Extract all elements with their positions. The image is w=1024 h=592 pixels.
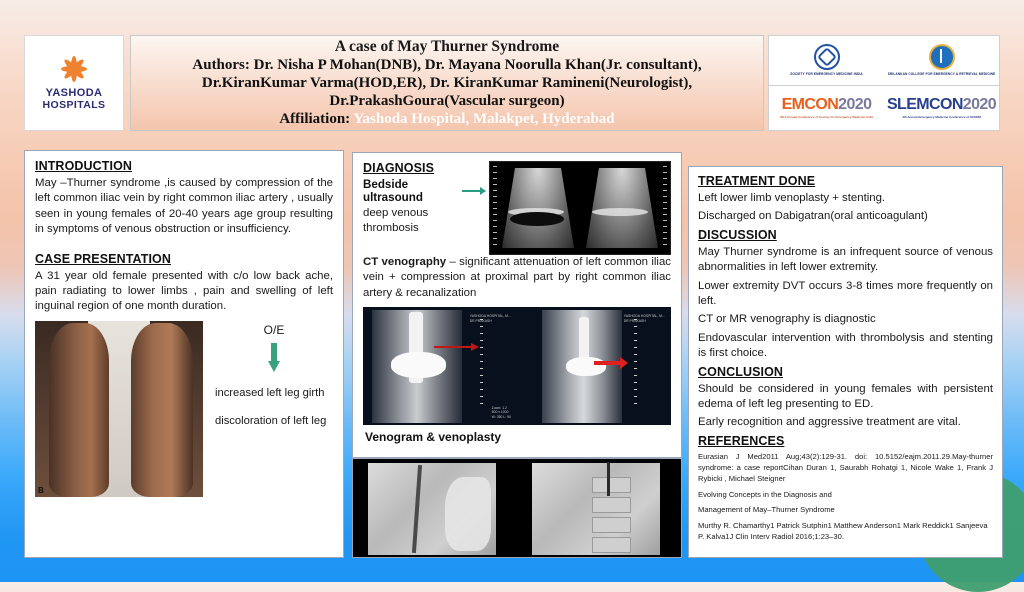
conclusion-line-1: Should be considered in young females wi… [698, 382, 993, 413]
venogram-image-1 [353, 459, 517, 558]
ct-venography-label: CT venography [363, 256, 446, 268]
discussion-heading: DISCUSSION [698, 228, 993, 242]
ultrasound-sector-left [502, 168, 574, 248]
reference-3: Management of May–Thurner Syndrome [698, 504, 993, 515]
reference-1: Eurasian J Med2011 Aug;43(2):129-31. doi… [698, 451, 993, 485]
treatment-line-1: Left lower limb venoplasty + stenting. [698, 191, 993, 206]
right-leg-region [131, 323, 193, 497]
semi-caption: SOCIETY FOR EMERGENCY MEDICINE INDIA [790, 72, 863, 76]
emcon-subtitle: 33rd Annual Conference of Society for Em… [780, 115, 873, 119]
ultrasound-scale-right [663, 166, 667, 250]
left-leg-region [49, 323, 109, 497]
reference-4: Murthy R. Chamarthy1 Patrick Sutphin1 Ma… [698, 520, 993, 543]
bedside-finding: deep venous thrombosis [363, 206, 485, 237]
bedside-ultrasound-text: Bedside ultrasound [363, 178, 460, 204]
ultrasound-scale-left [493, 166, 497, 250]
affiliation-label: Affiliation: [279, 111, 350, 127]
oe-label: O/E [264, 323, 285, 337]
left-column: INTRODUCTION May –Thurner syndrome ,is c… [24, 150, 344, 558]
yashoda-logo: YASHODA HOSPITALS [24, 35, 124, 131]
case-presentation-heading: CASE PRESENTATION [35, 252, 333, 266]
poster-header: YASHODA HOSPITALS A case of May Thurner … [24, 35, 1000, 143]
ct-venography-images: YASHODA HOSPITAL, M...DR PRAKASH Zoom: 1… [363, 307, 671, 425]
conclusion-heading: CONCLUSION [698, 365, 993, 379]
spacer [35, 241, 333, 252]
ct-venography-paragraph: CT venography – significant attenuation … [363, 255, 671, 301]
conclusion-line-2: Early recognition and aggressive treatme… [698, 415, 993, 430]
poster-authors: Authors: Dr. Nisha P Mohan(DNB), Dr. May… [139, 56, 755, 110]
discussion-line-4: Endovascular intervention with thromboly… [698, 331, 993, 362]
reference-2: Evolving Concepts in the Diagnosis and [698, 489, 993, 500]
diagnosis-text-block: DIAGNOSIS Bedside ultrasound deep venous… [363, 161, 489, 255]
slemcon-year: 2020 [963, 96, 996, 113]
slemcon-subtitle: 4th Annual Emergency Medicine Conference… [902, 115, 981, 119]
trefoil-icon [814, 44, 840, 70]
introduction-heading: INTRODUCTION [35, 159, 333, 173]
slemcon-wordmark: SLEMCON2020 [887, 96, 996, 114]
middle-column: DIAGNOSIS Bedside ultrasound deep venous… [352, 152, 682, 458]
slem-caption: SRILANKAN COLLEGE FOR EMERGENCY & RETRIE… [888, 72, 996, 76]
slemcon-logo: SLEMCON2020 4th Annual Emergency Medicin… [884, 86, 999, 130]
title-band: A case of May Thurner Syndrome Authors: … [130, 35, 764, 131]
poster-canvas: YASHODA HOSPITALS A case of May Thurner … [0, 0, 1024, 582]
venogram-images [352, 458, 682, 558]
ct-image-coronal: YASHODA HOSPITAL, M...DR PRAKASH Zoom: 1… [363, 307, 517, 425]
treatment-line-2: Discharged on Dabigatran(oral anticoagul… [698, 209, 993, 224]
photo-label: B [38, 486, 44, 495]
slem-logo: SRILANKAN COLLEGE FOR EMERGENCY & RETRIE… [884, 36, 999, 85]
examination-annotations: O/E increased left leg girth discolorati… [203, 321, 333, 497]
ultrasound-image [489, 161, 671, 255]
ct-image-recanalization: YASHODA HOSPITAL, M...DR PRAKASH [517, 307, 671, 425]
finding-discoloration: discoloration of left leg [215, 415, 333, 427]
treatment-heading: TREATMENT DONE [698, 174, 993, 188]
poster-title: A case of May Thurner Syndrome [335, 38, 559, 56]
emcon-year: 2020 [838, 96, 871, 113]
poster-affiliation: Affiliation: Yashoda Hospital, Malakpet,… [279, 110, 614, 128]
bedside-ultrasound-label: Bedside ultrasound [363, 178, 485, 204]
ct-finding-arrow-right [594, 361, 622, 365]
introduction-text: May –Thurner syndrome ,is caused by comp… [35, 176, 333, 238]
emcon-name: EMCON [782, 96, 839, 113]
discussion-line-1: May Thurner syndrome is an infrequent so… [698, 245, 993, 276]
diagnosis-block: DIAGNOSIS Bedside ultrasound deep venous… [363, 161, 671, 255]
affiliation-value: Yashoda Hospital, Malakpet, Hyderabad [353, 111, 614, 127]
emcon-wordmark: EMCON2020 [782, 96, 872, 114]
diagnosis-heading: DIAGNOSIS [363, 161, 485, 175]
caduceus-icon [929, 44, 955, 70]
down-arrow-icon [268, 343, 280, 373]
ultrasound-sector-right [586, 168, 658, 248]
right-arrow-icon [462, 190, 485, 192]
logo-subtitle: HOSPITALS [43, 100, 106, 111]
finding-girth: increased left leg girth [215, 387, 333, 399]
slemcon-name: SLEMCON [887, 96, 963, 113]
semi-logo: SOCIETY FOR EMERGENCY MEDICINE INDIA [769, 36, 884, 85]
clinical-photo-row: B O/E increased left leg girth discolora… [35, 321, 333, 497]
venogram-label: Venogram & venoplasty [363, 425, 671, 448]
emcon-logo: EMCON2020 33rd Annual Conference of Soci… [769, 86, 884, 130]
conference-logos: SOCIETY FOR EMERGENCY MEDICINE INDIA SRI… [768, 35, 1000, 131]
flower-logo-icon [59, 55, 89, 85]
references-heading: REFERENCES [698, 434, 993, 448]
leg-photo: B [35, 321, 203, 497]
case-presentation-text: A 31 year old female presented with c/o … [35, 269, 333, 315]
venogram-image-2 [517, 459, 681, 558]
discussion-line-2: Lower extremity DVT occurs 3-8 times mor… [698, 279, 993, 310]
right-column: TREATMENT DONE Left lower limb venoplast… [688, 166, 1003, 558]
discussion-line-3: CT or MR venography is diagnostic [698, 312, 993, 327]
ct-finding-arrow-left [434, 346, 474, 348]
